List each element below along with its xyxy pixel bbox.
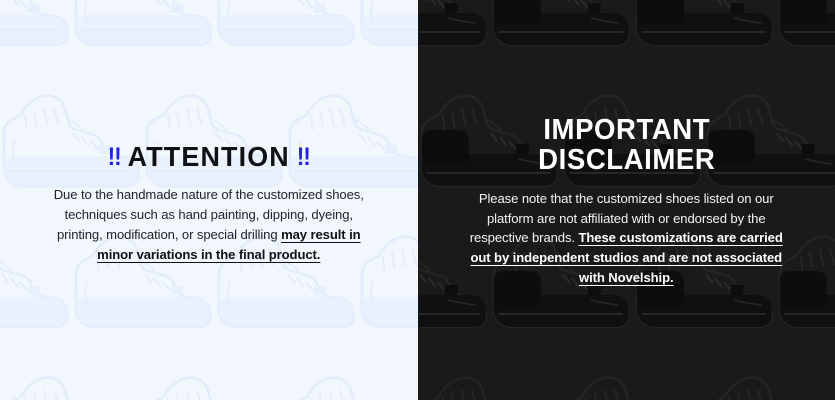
panel-divider xyxy=(418,0,419,400)
attention-panel: !!ATTENTION!! Due to the handmade nature… xyxy=(0,0,418,400)
disclaimer-panel: IMPORTANT DISCLAIMER Please note that th… xyxy=(418,0,835,400)
attention-body: Due to the handmade nature of the custom… xyxy=(50,185,368,265)
customization-notice-banner: !!ATTENTION!! Due to the handmade nature… xyxy=(0,0,835,400)
attention-heading: !!ATTENTION!! xyxy=(22,142,396,171)
disclaimer-heading: IMPORTANT DISCLAIMER xyxy=(441,116,811,176)
attention-content: !!ATTENTION!! Due to the handmade nature… xyxy=(0,142,418,265)
double-exclamation-right-icon: !! xyxy=(297,144,310,170)
attention-heading-text: ATTENTION xyxy=(128,141,290,172)
disclaimer-heading-line2: DISCLAIMER xyxy=(441,146,811,176)
disclaimer-body: Please note that the customized shoes li… xyxy=(465,189,787,288)
disclaimer-heading-line1: IMPORTANT xyxy=(441,116,811,146)
double-exclamation-left-icon: !! xyxy=(107,144,120,170)
disclaimer-content: IMPORTANT DISCLAIMER Please note that th… xyxy=(418,116,835,288)
